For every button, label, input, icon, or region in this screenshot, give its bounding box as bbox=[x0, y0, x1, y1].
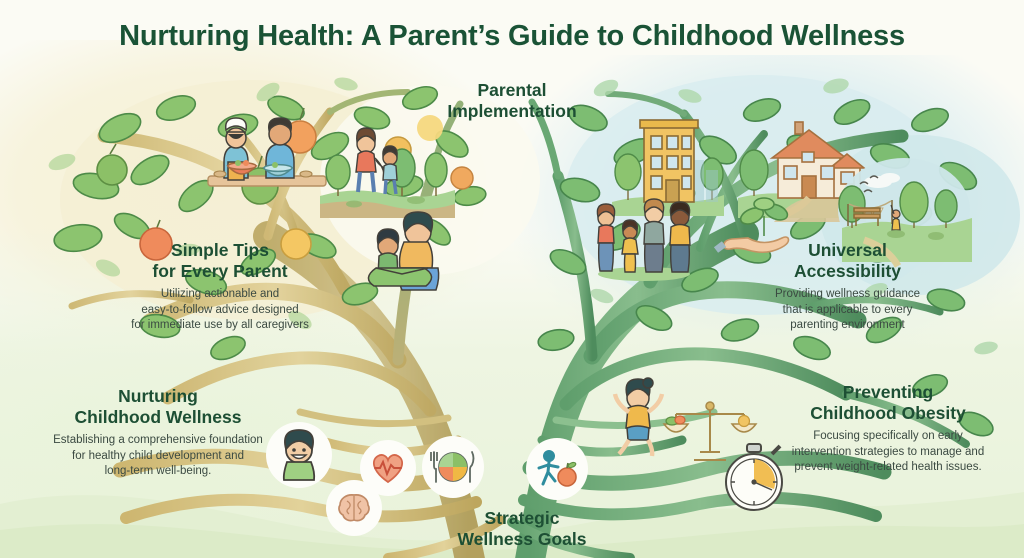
branch-body: Focusing specifically on early intervent… bbox=[762, 429, 1014, 477]
branch-block-nurturing-childhood-wellness: Nurturing Childhood Wellness Establishin… bbox=[28, 386, 288, 480]
branch-block-preventing-childhood-obesity: Preventing Childhood Obesity Focusing sp… bbox=[762, 382, 1014, 476]
running-person-apple-icon bbox=[528, 440, 586, 498]
diverse-family-group bbox=[592, 200, 696, 280]
branch-heading: Universal Accessibility bbox=[735, 240, 960, 283]
branch-body: Utilizing actionable and easy-to-follow … bbox=[110, 287, 330, 335]
branch-block-simple-tips: Simple Tips for Every Parent Utilizing a… bbox=[110, 240, 330, 334]
page-title: Nurturing Health: A Parent’s Guide to Ch… bbox=[0, 20, 1024, 53]
branch-block-universal-accessibility: Universal Accessibility Providing wellne… bbox=[735, 240, 960, 334]
branch-body: Establishing a comprehensive foundation … bbox=[28, 433, 288, 481]
branch-heading: Simple Tips for Every Parent bbox=[110, 240, 330, 283]
branch-body: Providing wellness guidance that is appl… bbox=[735, 287, 960, 335]
branch-heading: Nurturing Childhood Wellness bbox=[28, 386, 288, 429]
parents-cooking-scene bbox=[202, 104, 332, 212]
center-label-top: Parental Implementation bbox=[412, 80, 612, 123]
branch-heading: Preventing Childhood Obesity bbox=[762, 382, 1014, 425]
apple-green-2 bbox=[97, 155, 127, 185]
heart-pulse-icon bbox=[362, 442, 414, 494]
healthy-plate-icon bbox=[424, 438, 482, 496]
brain-icon bbox=[328, 482, 380, 534]
parent-reading-to-child-scene bbox=[350, 198, 470, 300]
infographic-canvas: Nurturing Health: A Parent’s Guide to Ch… bbox=[0, 0, 1024, 558]
center-label-bottom: Strategic Wellness Goals bbox=[422, 508, 622, 551]
